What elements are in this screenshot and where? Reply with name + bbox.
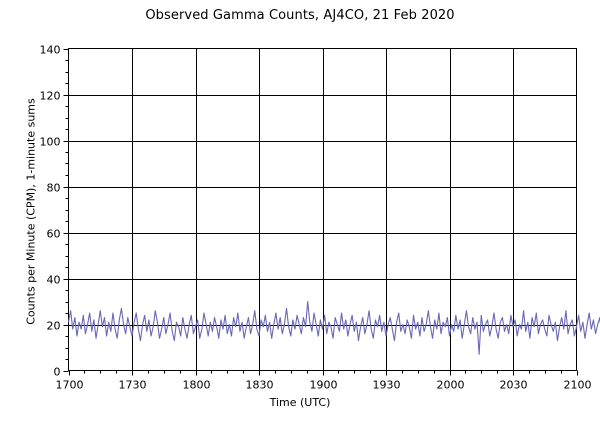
x-tick-label: 1800	[183, 379, 211, 392]
y-tick-label: 100	[40, 136, 61, 149]
y-tick-label: 40	[47, 274, 61, 287]
y-tick-label: 60	[47, 228, 61, 241]
x-tick-label: 2030	[500, 379, 528, 392]
x-tick-label: 1830	[246, 379, 274, 392]
y-tick-label: 120	[40, 90, 61, 103]
x-tick-label: 1900	[310, 379, 338, 392]
x-tick-label: 2000	[437, 379, 465, 392]
y-tick-label: 20	[47, 320, 61, 333]
x-axis-label: Time (UTC)	[0, 396, 600, 409]
x-tick-label: 1700	[56, 379, 84, 392]
x-tick-label: 1930	[373, 379, 401, 392]
chart-figure: Observed Gamma Counts, AJ4CO, 21 Feb 202…	[0, 0, 600, 428]
plot-area: 020406080100120140 170017301800183019001…	[0, 0, 600, 428]
y-tick-label: 140	[40, 44, 61, 57]
x-tick-label: 1730	[119, 379, 147, 392]
major-tick-marks	[64, 50, 578, 376]
y-axis-label: Counts per Minute (CPM), 1-minute sums	[25, 51, 38, 373]
gamma-counts-trace	[69, 302, 600, 355]
minor-tick-marks	[66, 61, 562, 374]
y-axis-tick-labels: 020406080100120140	[40, 44, 61, 379]
y-tick-label: 0	[54, 366, 61, 379]
y-tick-label: 80	[47, 182, 61, 195]
x-tick-label: 2100	[564, 379, 592, 392]
x-axis-tick-labels: 170017301800183019001930200020302100	[56, 379, 592, 392]
